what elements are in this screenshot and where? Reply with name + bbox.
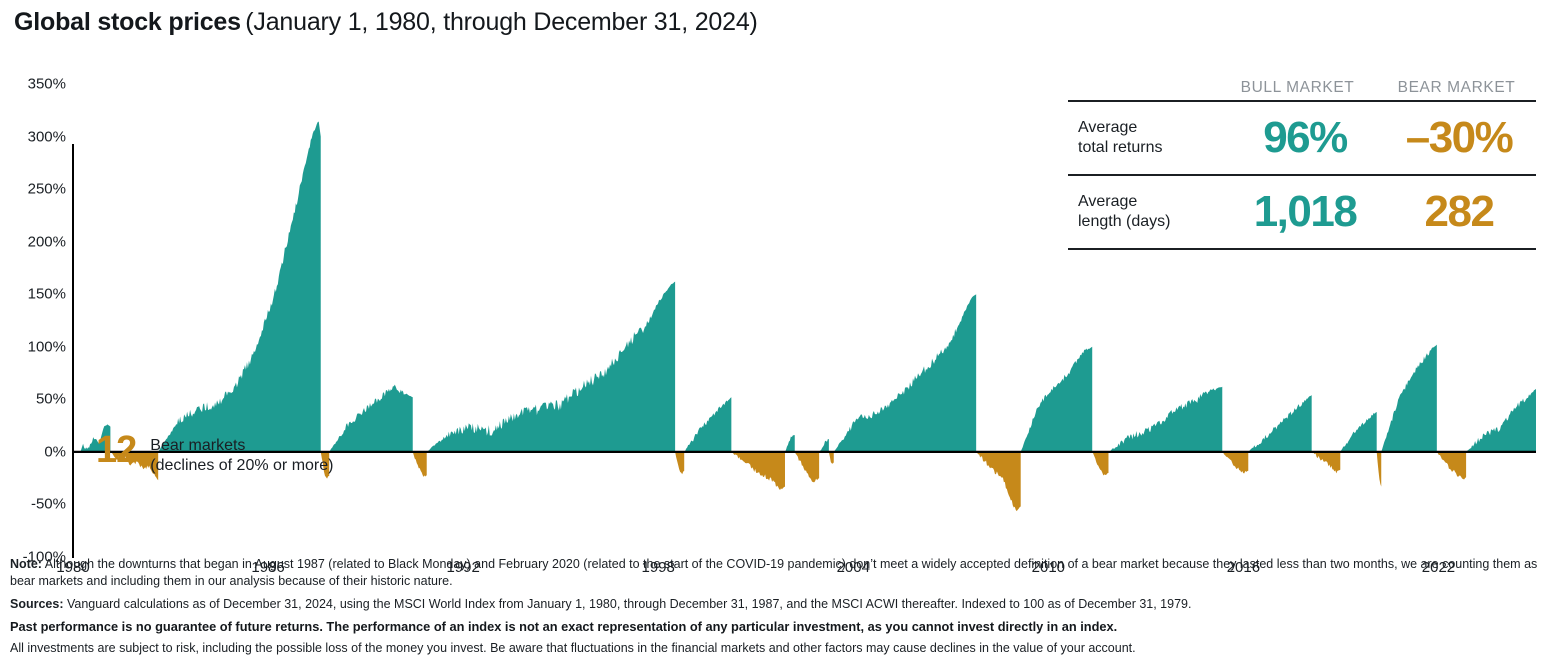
footnotes: Note: Although the downturns that began … [10, 556, 1542, 657]
y-axis-tick-label: 0% [44, 443, 66, 460]
bull-market-area [1248, 395, 1311, 452]
stats-label-line2: total returns [1078, 138, 1228, 158]
y-axis-tick-label: 100% [28, 338, 66, 355]
bear-market-area [731, 452, 785, 490]
y-axis-tick-label: 300% [28, 128, 66, 145]
bull-market-area [427, 282, 675, 452]
bull-market-area [1381, 345, 1437, 452]
table-row: Average length (days) 1,018 282 [1068, 176, 1536, 248]
stats-value-bull-length: 1,018 [1228, 187, 1382, 237]
stats-value-bear-returns: –30% [1382, 113, 1536, 163]
bear-market-area [675, 452, 684, 474]
market-stats-table: BULL MARKET BEAR MARKET Average total re… [1068, 74, 1536, 250]
footnote-note: Note: Although the downturns that began … [10, 556, 1542, 590]
stats-value-bear-length: 282 [1382, 187, 1536, 237]
stats-label-line1: Average [1078, 192, 1228, 212]
bull-market-area [819, 439, 829, 452]
bear-markets-count: 12 [96, 432, 136, 468]
y-axis-tick-label: -50% [31, 496, 66, 513]
bull-market-area [834, 294, 976, 452]
bull-market-area [329, 385, 413, 452]
stats-row-label-length: Average length (days) [1068, 192, 1228, 232]
bear-markets-line1: Bear markets [150, 436, 333, 456]
stats-header-bear: BEAR MARKET [1377, 79, 1536, 100]
y-axis-tick-label: 200% [28, 233, 66, 250]
chart-page: Global stock prices (January 1, 1980, th… [0, 0, 1548, 671]
bear-market-area [1377, 452, 1382, 487]
stats-header-bull: BULL MARKET [1218, 79, 1377, 100]
y-axis-tick-label: 350% [28, 76, 66, 93]
y-axis-tick-label: 250% [28, 181, 66, 198]
stats-value-bull-returns: 96% [1228, 113, 1382, 163]
stats-label-line2: length (days) [1078, 212, 1228, 232]
title-subtitle: (January 1, 1980, through December 31, 2… [245, 8, 757, 36]
y-axis-labels: 350%300%250%200%150%100%50%0%-50%-100% [0, 84, 66, 557]
title-main: Global stock prices [14, 8, 241, 36]
footnote-sources-label: Sources: [10, 597, 64, 611]
bull-market-area [158, 122, 321, 452]
footnote-note-label: Note: [10, 557, 42, 571]
stats-header-row: BULL MARKET BEAR MARKET [1068, 74, 1536, 100]
bear-market-area [1222, 452, 1248, 474]
bear-market-area [1092, 452, 1108, 476]
footnote-disclaimer-bold: Past performance is no guarantee of futu… [10, 618, 1542, 635]
bear-markets-description: Bear markets (declines of 20% or more) [150, 432, 333, 475]
bull-market-area [1021, 347, 1093, 452]
stats-rule-bottom [1068, 248, 1536, 250]
bear-markets-line2: (declines of 20% or more) [150, 456, 333, 476]
footnote-sources: Sources: Vanguard calculations as of Dec… [10, 596, 1542, 613]
bull-market-area [1466, 389, 1536, 452]
table-row: Average total returns 96% –30% [1068, 102, 1536, 174]
y-axis-tick-label: 50% [36, 391, 66, 408]
y-axis-tick-label: 150% [28, 286, 66, 303]
bull-market-area [785, 435, 795, 452]
bear-market-area [795, 452, 819, 482]
footnote-disclaimer-plain: All investments are subject to risk, inc… [10, 640, 1542, 657]
bear-market-area [829, 452, 834, 464]
stats-label-line1: Average [1078, 118, 1228, 138]
bear-market-area [413, 452, 427, 477]
stats-row-label-returns: Average total returns [1068, 118, 1228, 158]
bull-market-area [684, 397, 731, 452]
footnote-sources-text: Vanguard calculations as of December 31,… [64, 597, 1192, 611]
footnote-note-text: Although the downturns that began in Aug… [10, 557, 1537, 588]
page-title: Global stock prices (January 1, 1980, th… [14, 8, 758, 37]
bear-markets-annotation: 12 Bear markets (declines of 20% or more… [96, 432, 333, 475]
bull-market-area [1340, 412, 1376, 452]
bear-market-area [1312, 452, 1341, 473]
bear-market-area [976, 452, 1021, 511]
bear-market-area [1437, 452, 1466, 480]
bull-market-area [1108, 387, 1222, 452]
